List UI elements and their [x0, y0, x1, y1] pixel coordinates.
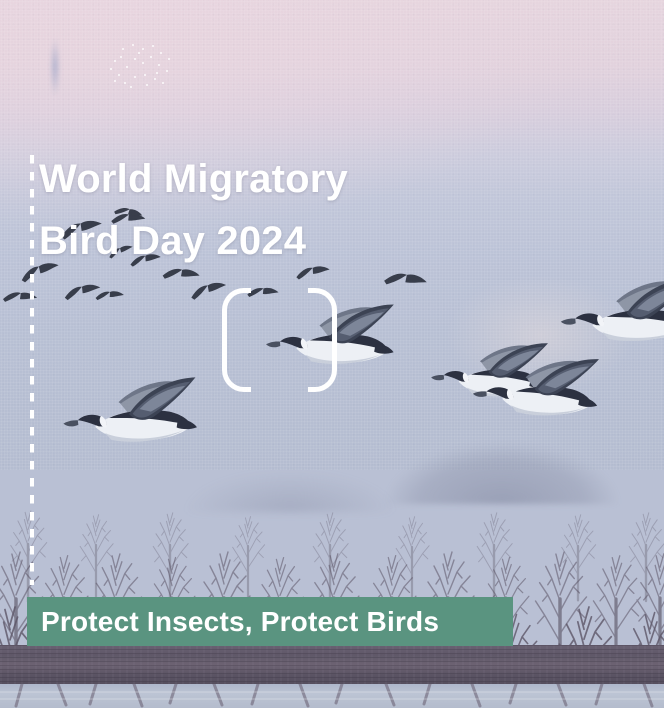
page-title: World Migratory Bird Day 2024 — [39, 148, 559, 272]
duck-far-right — [558, 278, 664, 348]
slogan-banner: Protect Insects, Protect Birds — [27, 597, 513, 646]
poster-canvas: World Migratory Bird Day 2024 Protect In… — [0, 0, 664, 708]
bracket-right-icon — [308, 288, 337, 392]
title-line-2: Bird Day 2024 — [39, 210, 559, 272]
bracket-left-icon — [222, 288, 251, 392]
title-line-1: World Migratory — [39, 148, 559, 210]
slogan-text: Protect Insects, Protect Birds — [27, 606, 439, 638]
dashed-guide-line — [30, 155, 34, 585]
duck-left — [60, 377, 202, 449]
